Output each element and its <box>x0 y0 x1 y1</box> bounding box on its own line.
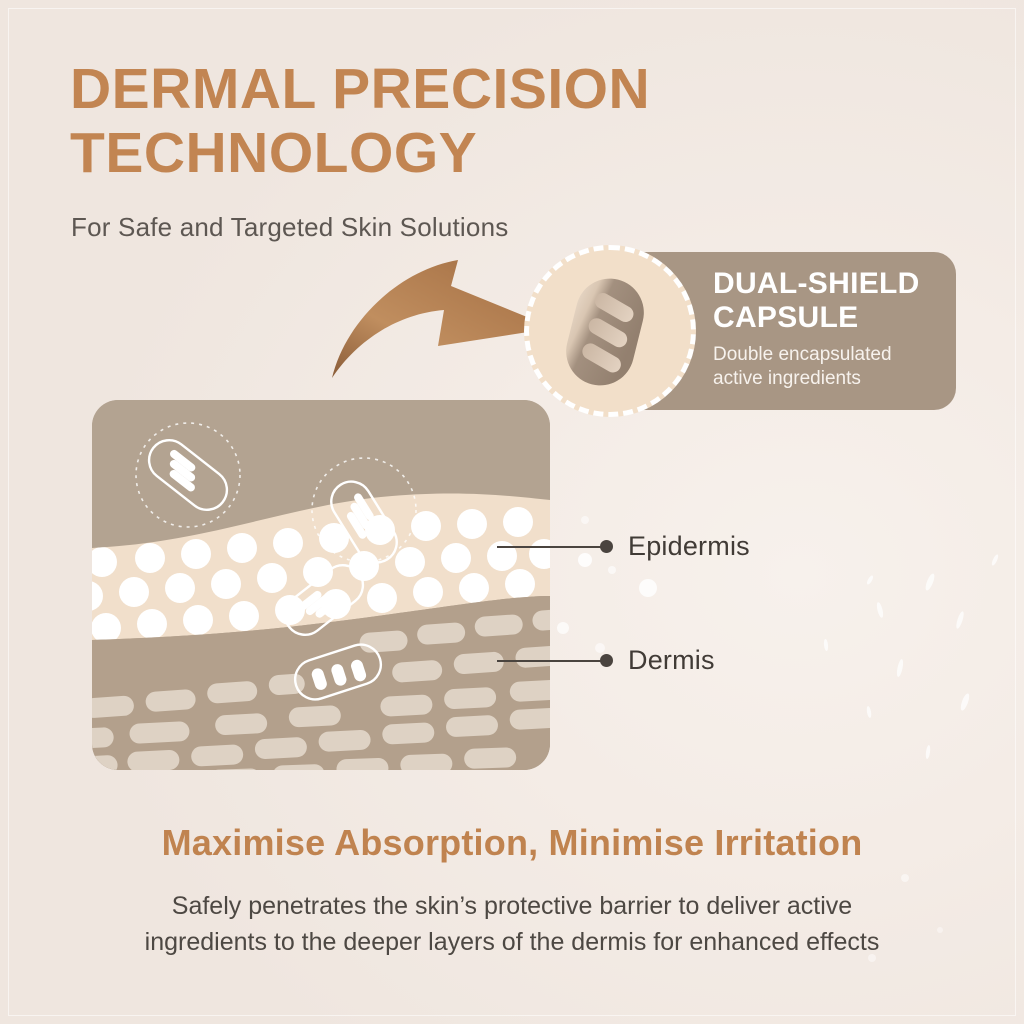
page-title: DERMAL PRECISION TECHNOLOGY <box>70 58 750 186</box>
footer-body-line-2: ingredients to the deeper layers of the … <box>130 924 894 960</box>
title-line-2: TECHNOLOGY <box>70 122 750 186</box>
footer-tagline: Maximise Absorption, Minimise Irritation <box>0 822 1024 864</box>
infographic-canvas: DERMAL PRECISION TECHNOLOGY For Safe and… <box>0 0 1024 1024</box>
leader-dot-dermis <box>600 654 613 667</box>
callout-text-group: DUAL-SHIELD CAPSULE Double encapsulated … <box>713 267 949 390</box>
callout-description: Double encapsulated active ingredients <box>713 343 949 391</box>
label-dermis: Dermis <box>628 645 715 676</box>
footer-body-copy: Safely penetrates the skin’s protective … <box>130 888 894 961</box>
leader-dot-epidermis <box>600 540 613 553</box>
title-line-1: DERMAL PRECISION <box>70 58 750 122</box>
leader-line-epidermis <box>497 546 605 548</box>
callout-desc-line-2: active ingredients <box>713 367 949 391</box>
callout-title-line-1: DUAL-SHIELD <box>713 267 949 301</box>
callout-title-line-2: CAPSULE <box>713 301 949 335</box>
leader-line-dermis <box>497 660 605 662</box>
page-subtitle: For Safe and Targeted Skin Solutions <box>71 212 508 243</box>
callout-desc-line-1: Double encapsulated <box>713 343 949 367</box>
label-epidermis: Epidermis <box>628 531 750 562</box>
skin-cross-section-diagram <box>92 400 550 770</box>
callout-title: DUAL-SHIELD CAPSULE <box>713 267 949 335</box>
footer-body-line-1: Safely penetrates the skin’s protective … <box>130 888 894 924</box>
